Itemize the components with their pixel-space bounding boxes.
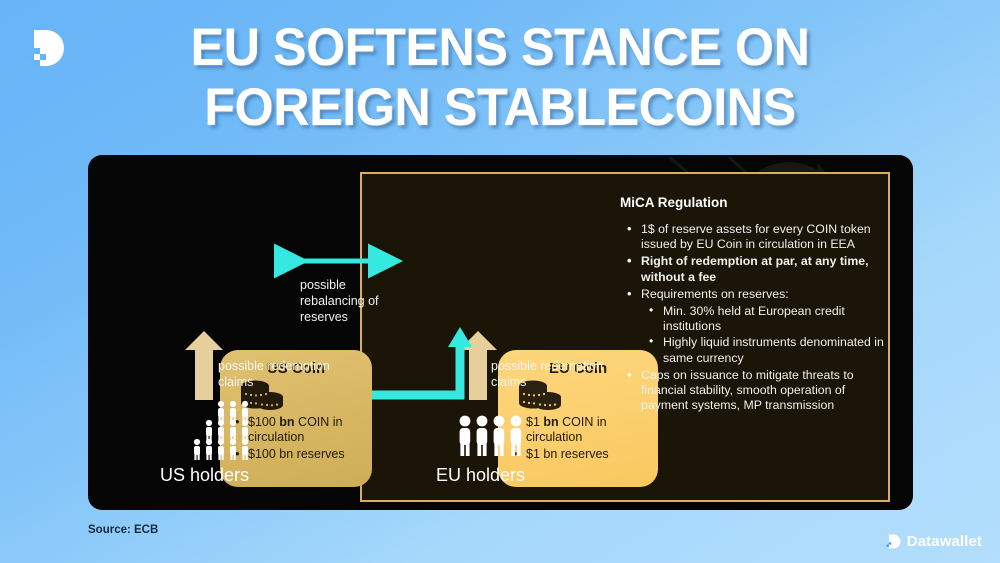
list-item: Right of redemption at par, at any time,… bbox=[620, 254, 892, 284]
mica-bullet-list: 1$ of reserve assets for every COIN toke… bbox=[620, 222, 892, 413]
headline-line-2: FOREIGN STABLECOINS bbox=[25, 78, 975, 138]
mica-title: MiCA Regulation bbox=[620, 195, 892, 210]
datawallet-d-logo-icon bbox=[885, 533, 902, 550]
us-holders-label: US holders bbox=[160, 465, 249, 486]
eu-redemption-caption: possible redemption claims bbox=[491, 358, 621, 390]
mica-sub-list: Min. 30% held at European credit institu… bbox=[641, 304, 892, 366]
source-note: Source: ECB bbox=[88, 524, 158, 536]
list-item: Requirements on reserves: Min. 30% held … bbox=[620, 287, 892, 366]
us-holders-figures-icon bbox=[178, 400, 293, 460]
list-item: Caps on issuance to mitigate threats to … bbox=[620, 368, 892, 414]
datawallet-watermark: Datawallet bbox=[885, 533, 982, 550]
diagram-panel: US Coin bbox=[88, 155, 913, 510]
eu-holders-label: EU holders bbox=[436, 465, 525, 486]
eu-holders-figures-icon bbox=[456, 413, 536, 461]
headline-line-1: EU SOFTENS STANCE ON bbox=[25, 18, 975, 78]
slide-canvas: EU SOFTENS STANCE ON FOREIGN STABLECOINS bbox=[0, 0, 1000, 563]
list-item: 1$ of reserve assets for every COIN toke… bbox=[620, 222, 892, 252]
list-item: Min. 30% held at European credit institu… bbox=[641, 304, 892, 334]
page-title: EU SOFTENS STANCE ON FOREIGN STABLECOINS bbox=[25, 18, 975, 138]
list-item: Highly liquid instruments denominated in… bbox=[641, 335, 892, 365]
us-redemption-caption: possible redemption claims bbox=[218, 358, 348, 390]
mica-regulation-block: MiCA Regulation 1$ of reserve assets for… bbox=[620, 195, 892, 415]
watermark-label: Datawallet bbox=[907, 533, 982, 550]
rebalancing-caption: possible rebalancing of reserves bbox=[300, 277, 392, 325]
